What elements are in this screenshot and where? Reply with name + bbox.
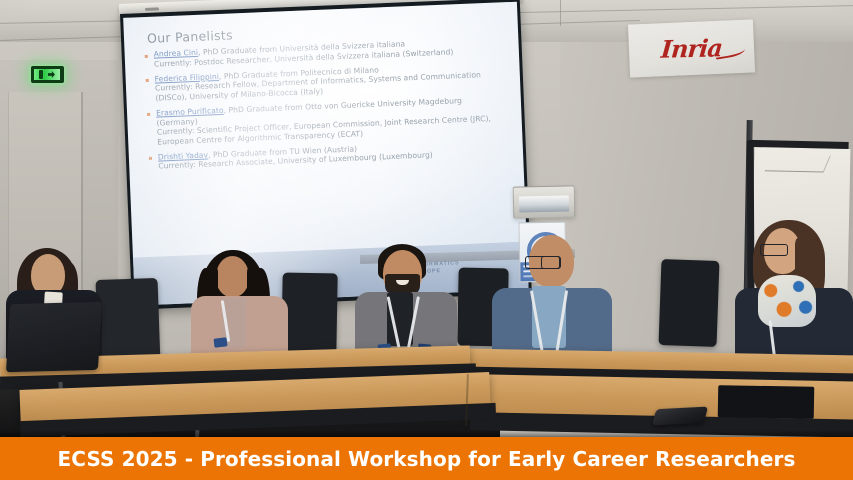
paper-towel-dispenser <box>513 185 576 218</box>
patterned-scarf <box>758 275 816 327</box>
chair <box>281 273 337 356</box>
caption-shadow <box>0 430 853 437</box>
chair <box>659 259 720 347</box>
face <box>216 256 249 297</box>
screenshot-root: Inria Our Panelists Andrea Cini, PhD Gra… <box>0 0 853 480</box>
caption-text: ECSS 2025 - Professional Workshop for Ea… <box>58 447 796 471</box>
exit-sign-icon <box>31 66 64 83</box>
caption-bar: ECSS 2025 - Professional Workshop for Ea… <box>0 437 853 480</box>
inria-logo-plaque: Inria <box>628 19 755 77</box>
eyeglasses-icon <box>541 256 560 269</box>
laptop[interactable] <box>6 302 102 373</box>
slide-bullet-list: Andrea Cini, PhD Graduate from Universit… <box>142 35 507 177</box>
smartphone[interactable] <box>652 407 708 426</box>
chair <box>96 278 161 366</box>
monitor <box>718 385 815 419</box>
projection-screen: Our Panelists Andrea Cini, PhD Graduate … <box>120 0 532 310</box>
slide-title: Our Panelists <box>147 27 233 46</box>
eyeglasses-icon <box>760 244 788 256</box>
